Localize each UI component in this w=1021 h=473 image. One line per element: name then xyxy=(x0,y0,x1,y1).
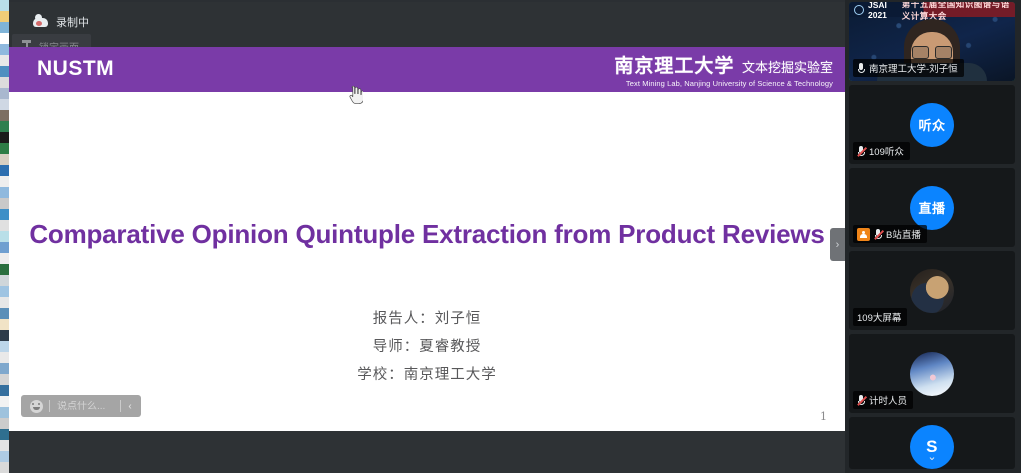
participant-name: 109听众 xyxy=(869,144,904,158)
chevron-down-icon[interactable]: ⌄ xyxy=(927,450,936,463)
chat-collapse-icon[interactable]: ‹ xyxy=(121,395,139,417)
lab-name-cn: 南京理工大学 xyxy=(614,55,734,77)
participant-name-badge: B站直播 xyxy=(853,225,927,243)
participant-tile-timekeeper[interactable]: 计时人员 xyxy=(849,334,1015,413)
emoji-icon[interactable] xyxy=(23,395,49,417)
participant-name-badge: 109大屏幕 xyxy=(853,308,907,326)
participant-name: B站直播 xyxy=(886,227,921,241)
panel-collapse-handle[interactable]: › xyxy=(830,228,845,261)
avatar: 直播 xyxy=(910,186,954,230)
participant-name-badge: 计时人员 xyxy=(853,391,913,409)
participant-name-badge: 南京理工大学-刘子恒 xyxy=(853,59,964,77)
presenter-line: 报告人：刘子恒 xyxy=(9,305,845,333)
shared-slide[interactable]: NUSTM 南京理工大学 文本挖掘实验室 Text Mining Lab, Na… xyxy=(9,47,845,431)
chat-input[interactable] xyxy=(50,401,120,412)
recording-topbar: 录制中 xyxy=(9,2,845,47)
mic-muted-icon xyxy=(857,395,865,406)
avatar xyxy=(910,352,954,396)
participant-name: 109大屏幕 xyxy=(857,310,901,324)
advisor-line: 导师：夏睿教授 xyxy=(9,333,845,361)
banner-en: JSAI 2021 xyxy=(868,2,898,20)
chat-input-bar[interactable]: ‹ xyxy=(21,395,141,417)
lab-name-en: Text Mining Lab, Nanjing University of S… xyxy=(614,79,833,88)
avatar: 听众 xyxy=(910,103,954,147)
lab-sub-cn: 文本挖掘实验室 xyxy=(742,61,833,76)
slide-header-banner: NUSTM 南京理工大学 文本挖掘实验室 Text Mining Lab, Na… xyxy=(9,47,845,92)
participant-tile-audience[interactable]: 听众 109听众 xyxy=(849,85,1015,164)
participant-name: 计时人员 xyxy=(869,393,907,407)
mic-icon xyxy=(857,63,865,74)
mic-muted-icon xyxy=(857,146,865,157)
slide-thumbnail-strip[interactable] xyxy=(0,0,9,473)
glasses-icon xyxy=(912,46,952,57)
mouse-cursor xyxy=(349,86,363,104)
recording-status: 录制中 xyxy=(33,14,89,30)
conference-banner: JSAI 2021 第十五届全国知识图谱与语义计算大会 xyxy=(849,2,1015,17)
participant-tile-next[interactable]: S ⌄ xyxy=(849,417,1015,469)
cloud-record-icon xyxy=(33,18,48,27)
lab-identity: 南京理工大学 文本挖掘实验室 Text Mining Lab, Nanjing … xyxy=(614,51,833,88)
participant-name-badge: 109听众 xyxy=(853,142,910,160)
slide-page-number: 1 xyxy=(820,410,827,423)
participant-tile-bigscreen[interactable]: 109大屏幕 xyxy=(849,251,1015,330)
nustm-logo: NUSTM xyxy=(37,57,114,81)
participant-rail[interactable]: JSAI 2021 第十五届全国知识图谱与语义计算大会 南京理工大学-刘子恒 听… xyxy=(845,0,1021,473)
recording-label: 录制中 xyxy=(56,14,89,30)
mic-muted-icon xyxy=(874,229,882,240)
jsai-logo-icon xyxy=(854,5,864,15)
participant-tile-livestream[interactable]: 直播 B站直播 xyxy=(849,168,1015,247)
slide-subtitle-block: 报告人：刘子恒 导师：夏睿教授 学校：南京理工大学 xyxy=(9,305,845,389)
meeting-window: 录制中 锁定画面 NUSTM 南京理工大学 文本挖掘实验室 Text Minin… xyxy=(0,0,1021,473)
banner-cn: 第十五届全国知识图谱与语义计算大会 xyxy=(902,2,1015,22)
bottom-toolbar xyxy=(9,431,845,473)
host-icon xyxy=(857,228,870,241)
slide-title: Comparative Opinion Quintuple Extraction… xyxy=(9,219,845,250)
avatar xyxy=(910,269,954,313)
school-line: 学校：南京理工大学 xyxy=(9,361,845,389)
participant-tile-speaker[interactable]: JSAI 2021 第十五届全国知识图谱与语义计算大会 南京理工大学-刘子恒 xyxy=(849,2,1015,81)
participant-name: 南京理工大学-刘子恒 xyxy=(869,61,958,75)
